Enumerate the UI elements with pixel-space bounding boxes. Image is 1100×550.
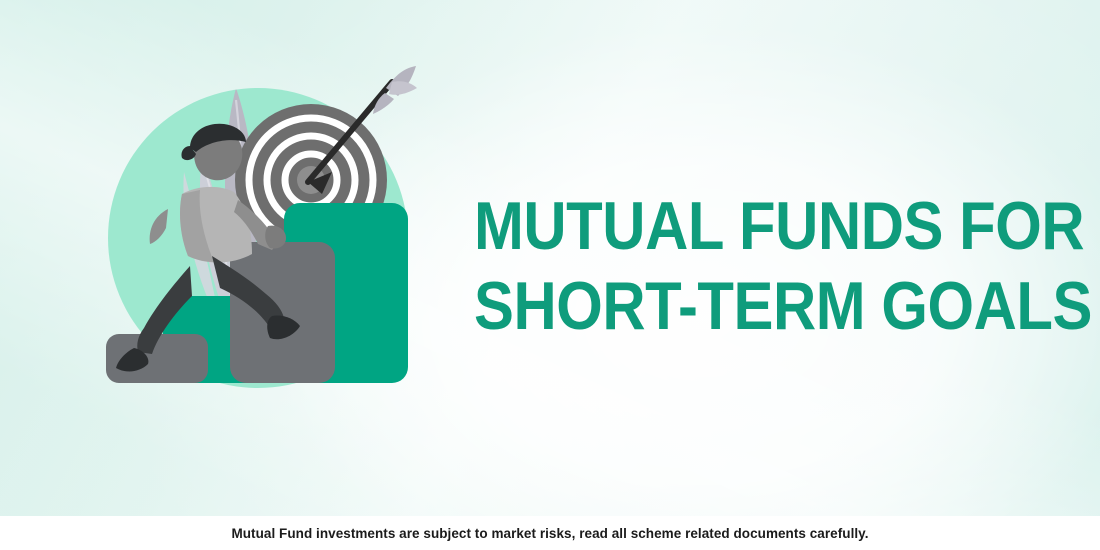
headline-line-2: SHORT-TERM GOALS — [474, 266, 967, 346]
grey-bar-2 — [230, 242, 335, 383]
growth-steps-target-illustration — [86, 60, 436, 400]
disclaimer-bar: Mutual Fund investments are subject to m… — [0, 516, 1100, 550]
promo-banner: MUTUAL FUNDS FOR SHORT-TERM GOALS Mutual… — [0, 0, 1100, 550]
page-title: MUTUAL FUNDS FOR SHORT-TERM GOALS — [474, 186, 967, 346]
headline-line-1: MUTUAL FUNDS FOR — [474, 188, 1084, 264]
disclaimer-text: Mutual Fund investments are subject to m… — [231, 526, 868, 541]
